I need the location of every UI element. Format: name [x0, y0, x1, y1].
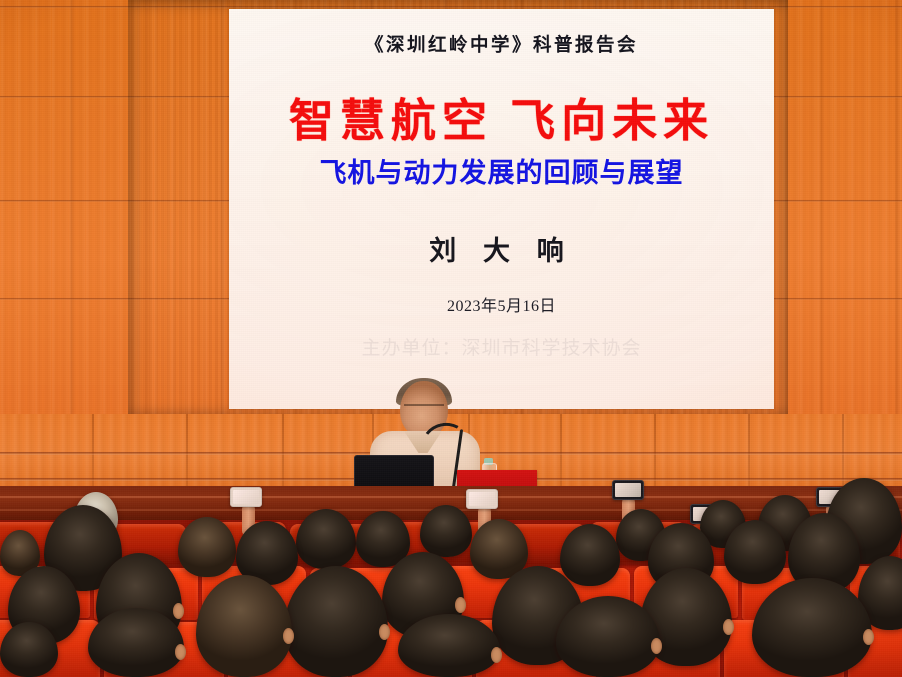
ear [651, 638, 662, 654]
ear [491, 647, 502, 663]
phone-screen [233, 490, 259, 504]
ear [283, 628, 294, 644]
audience-head [0, 622, 58, 677]
audience-head [178, 517, 236, 577]
smartphone-icon [230, 487, 262, 507]
ear [455, 597, 466, 613]
audience-head [398, 614, 500, 677]
phone-screen [615, 483, 641, 497]
slide-main-title: 智慧航空 飞向未来 [229, 99, 774, 144]
audience-head [560, 524, 620, 586]
auditorium-photo: 《深圳红岭中学》科普报告会 智慧航空 飞向未来 飞机与动力发展的回顾与展望 刘 … [0, 0, 902, 677]
audience-head [420, 505, 472, 557]
projection-screen: 《深圳红岭中学》科普报告会 智慧航空 飞向未来 飞机与动力发展的回顾与展望 刘 … [229, 9, 774, 409]
smartphone-icon [466, 489, 498, 509]
ear [175, 644, 186, 660]
phone-screen [469, 492, 495, 506]
slide-header-text: 《深圳红岭中学》科普报告会 [229, 31, 774, 57]
slide-subtitle: 飞机与动力发展的回顾与展望 [229, 160, 774, 187]
slide-date: 2023年5月16日 [229, 292, 774, 316]
glasses-icon [404, 404, 444, 414]
slide-speaker-name: 刘 大 响 [229, 229, 774, 268]
ear [379, 624, 390, 640]
slide-organizer: 主办单位：深圳市科学技术协会 [229, 333, 774, 360]
ear [173, 603, 184, 619]
ear [723, 619, 734, 635]
smartphone-icon [612, 480, 644, 500]
audience-head [296, 509, 356, 569]
slide-content: 《深圳红岭中学》科普报告会 智慧航空 飞向未来 飞机与动力发展的回顾与展望 刘 … [229, 31, 774, 409]
